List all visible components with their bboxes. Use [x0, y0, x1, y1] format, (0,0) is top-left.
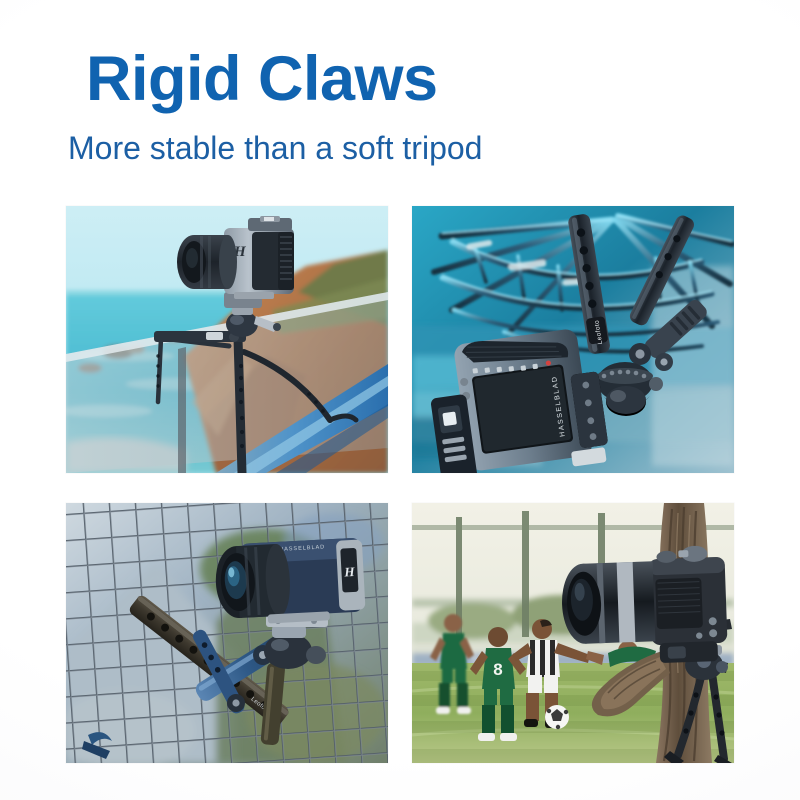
- photo-mesh-fence: Leofoto: [66, 503, 388, 763]
- photo-soccer-tree: H: [412, 503, 734, 763]
- photo-ceiling-truss: Leofoto: [412, 206, 734, 473]
- svg-text:8: 8: [493, 660, 502, 679]
- photo-coastal-railing: H: [66, 206, 388, 473]
- page-subtitle: More stable than a soft tripod: [68, 129, 482, 167]
- svg-text:H: H: [343, 564, 356, 580]
- poster-canvas: Rigid Claws More stable than a soft trip…: [0, 0, 800, 800]
- photo-gallery: H: [66, 206, 734, 763]
- page-title: Rigid Claws: [86, 47, 438, 111]
